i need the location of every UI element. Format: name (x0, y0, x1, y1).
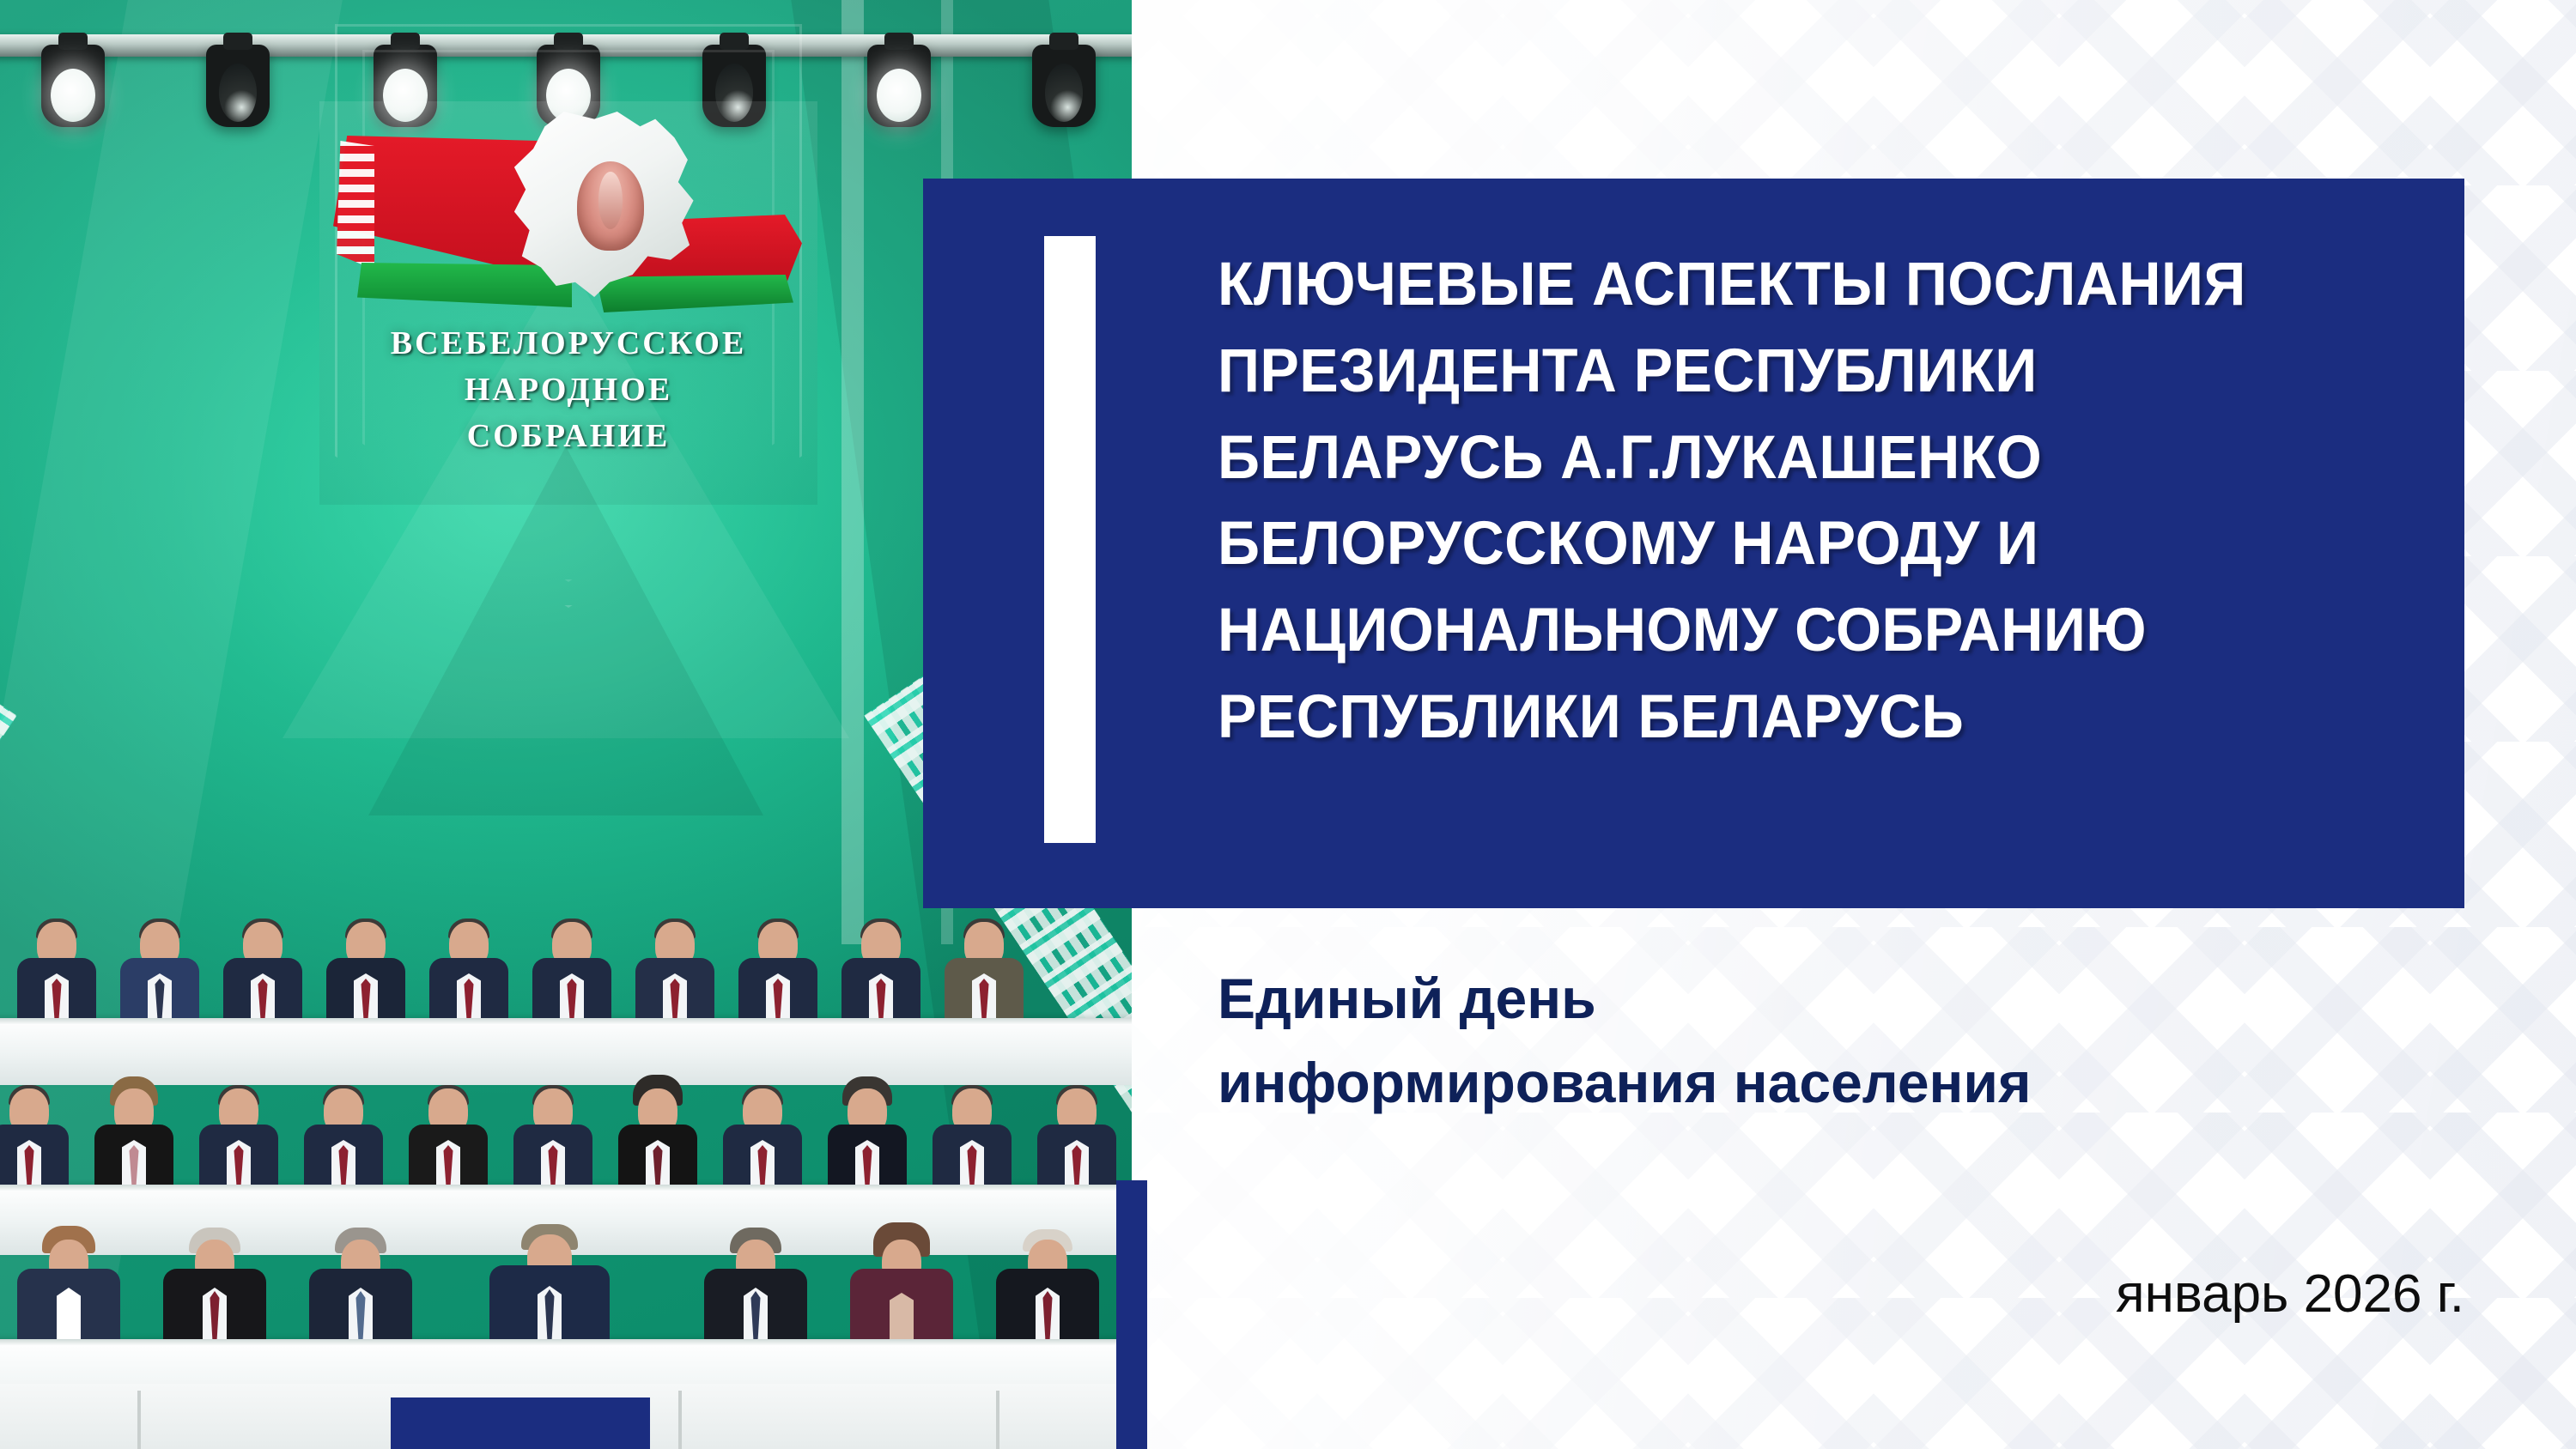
title-line: НАЦИОНАЛЬНОМУ СОБРАНИЮ (1218, 588, 2397, 675)
decorative-strip-right (1116, 1180, 1147, 1449)
decorative-block-bottom (391, 1397, 650, 1449)
title-line: РЕСПУБЛИКИ БЕЛАРУСЬ (1218, 675, 2397, 761)
desk-panel-seam (137, 1391, 141, 1449)
stage-light-icon (206, 45, 270, 127)
coat-of-arms-icon (577, 161, 644, 251)
title-accent-bar (1044, 236, 1096, 843)
desk-panel-seam (996, 1391, 999, 1449)
title-line: БЕЛАРУСЬ А.Г.ЛУКАШЕНКО (1218, 415, 2397, 502)
slide-date: январь 2026 г. (1218, 1264, 2464, 1325)
title-line: КЛЮЧЕВЫЕ АСПЕКТЫ ПОСЛАНИЯ (1218, 242, 2397, 329)
subtitle: Единый день информирования населения (1218, 957, 2420, 1125)
stage-light-icon (1032, 45, 1096, 127)
stage-light-icon (867, 45, 931, 127)
title-line: ПРЕЗИДЕНТА РЕСПУБЛИКИ (1218, 329, 2397, 415)
title-line: БЕЛОРУССКОМУ НАРОДУ И (1218, 501, 2397, 588)
page-title: КЛЮЧЕВЫЕ АСПЕКТЫ ПОСЛАНИЯ ПРЕЗИДЕНТА РЕС… (1218, 242, 2397, 761)
stage-light-icon (41, 45, 105, 127)
emblem-caption-line: НАРОДНОЕ (319, 367, 817, 414)
desk-panel-seam (678, 1391, 682, 1449)
delegate-row-back (0, 1018, 1132, 1085)
backdrop-facet (841, 0, 864, 944)
emblem-caption: ВСЕБЕЛОРУССКОЕ НАРОДНОЕ СОБРАНИЕ (319, 321, 817, 460)
emblem-caption-line: СОБРАНИЕ (319, 414, 817, 460)
subtitle-line: информирования населения (1218, 1041, 2420, 1125)
assembly-emblem: ВСЕБЕЛОРУССКОЕ НАРОДНОЕ СОБРАНИЕ (319, 101, 817, 505)
subtitle-line: Единый день (1218, 957, 2420, 1041)
presentation-slide: ВСЕБЕЛОРУССКОЕ НАРОДНОЕ СОБРАНИЕ (0, 0, 2576, 1449)
emblem-caption-line: ВСЕБЕЛОРУССКОЕ (319, 321, 817, 367)
